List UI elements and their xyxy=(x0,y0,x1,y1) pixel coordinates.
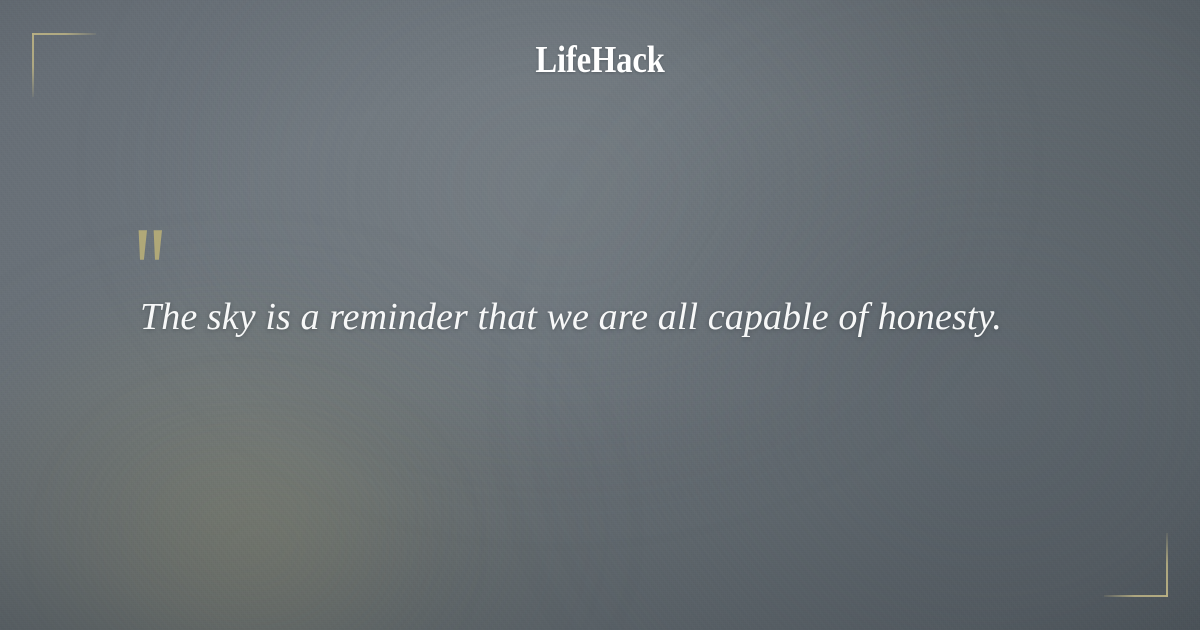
quote-card: LifeHack The sky is a reminder that we a… xyxy=(0,0,1200,630)
brand-logo: LifeHack xyxy=(84,40,1116,80)
corner-bracket-bottom-right-horizontal xyxy=(1104,595,1168,597)
corner-bracket-top-left-horizontal xyxy=(32,33,96,35)
quote-text: The sky is a reminder that we are all ca… xyxy=(140,292,1100,342)
quote-mark-icon xyxy=(134,228,178,270)
corner-bracket-bottom-right-vertical xyxy=(1166,533,1168,597)
corner-bracket-top-left-vertical xyxy=(32,33,34,97)
corner-bracket-bottom-right-icon xyxy=(1104,533,1168,597)
